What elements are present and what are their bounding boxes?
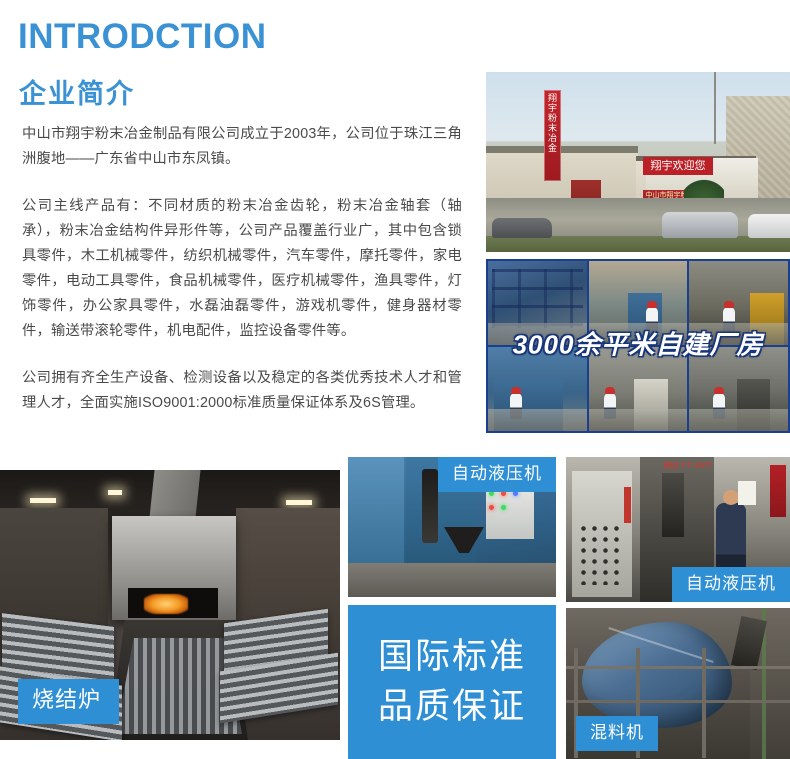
intro-paragraph-3: 公司拥有齐全生产设备、检测设备以及稳定的各类优秀技术人才和管理人才，全面实施IS… [22, 366, 462, 416]
utility-pole [714, 72, 716, 144]
wall-notice [738, 481, 756, 505]
emergency-strip [624, 487, 631, 523]
guard-rail [566, 700, 790, 703]
rail-post [702, 648, 706, 758]
company-introduction-text: 中山市翔宇粉末冶金制品有限公司成立于2003年，公司位于珠江三角洲腹地——广东省… [22, 122, 462, 416]
collage-cell-press-row [488, 347, 587, 431]
facility-collage-photo: 3000余平米自建厂房 [486, 259, 790, 433]
worker [716, 503, 746, 569]
floor [488, 323, 587, 345]
factory-exterior-photo: 翔宇粉末冶金 翔宇欢迎您 中山市翔宇粉末冶金制品有限公司 [486, 72, 790, 252]
floor [488, 409, 587, 431]
collage-cell-control-panel [589, 347, 688, 431]
indicator-light-red [489, 505, 494, 510]
sintering-furnace-label: 烧结炉 [18, 679, 119, 724]
hydraulic-press-photo-2: 精达 FT-100T 自动液压机 [566, 457, 790, 602]
floor [348, 563, 556, 597]
collage-cell-workshop [689, 347, 788, 431]
hydraulic-press-label-1: 自动液压机 [438, 457, 556, 492]
parked-car-2 [662, 212, 738, 238]
machine-tag: 精达 FT-100T [662, 461, 714, 483]
section-subtitle: 企业简介 [19, 72, 135, 111]
quality-slogan-line-1: 国际标准 [348, 632, 556, 682]
intro-paragraph-1: 中山市翔宇粉末冶金制品有限公司成立于2003年，公司位于珠江三角洲腹地——广东省… [22, 122, 462, 172]
press-ram [422, 469, 438, 543]
collage-cell-warehouse-racks [488, 261, 587, 345]
mixer-drum [582, 622, 732, 728]
red-banner [770, 465, 786, 517]
collage-cell-machining-area [689, 261, 788, 345]
floor [689, 323, 788, 345]
collage-cell-press-line [589, 261, 688, 345]
floor [689, 409, 788, 431]
ceiling-lamp [108, 490, 122, 495]
page-title: INTRODCTION [18, 18, 267, 57]
intro-paragraph-2: 公司主线产品有：不同材质的粉末冶金齿轮，粉末冶金轴套（轴承），粉末冶金结构件异形… [22, 194, 462, 344]
sintering-furnace-photo: 烧结炉 [0, 470, 340, 740]
vertical-sign: 翔宇粉末冶金 [544, 90, 561, 181]
ceiling-lamp [30, 498, 56, 503]
guard-rail [566, 666, 790, 669]
hydraulic-press-label-2: 自动液压机 [672, 567, 790, 602]
hydraulic-press-photo-1: 自动液压机 [348, 457, 556, 597]
quality-slogan: 国际标准 品质保证 [348, 632, 556, 732]
welcome-banner: 翔宇欢迎您 [643, 157, 713, 175]
quality-slogan-line-2: 品质保证 [348, 682, 556, 732]
furnace-flame [144, 594, 188, 614]
grass-strip [486, 236, 790, 252]
floor [589, 409, 688, 431]
indicator-light-green [501, 505, 506, 510]
button-grid [578, 523, 624, 585]
mixer-photo: 混料机 [566, 608, 790, 759]
storage-rack [492, 269, 583, 328]
floor [589, 323, 688, 345]
parked-car-1 [492, 218, 552, 238]
quality-slogan-panel: 国际标准 品质保证 [348, 605, 556, 759]
mixer-label: 混料机 [576, 716, 658, 751]
ceiling-lamp [286, 500, 312, 505]
parked-car-3 [748, 214, 790, 238]
